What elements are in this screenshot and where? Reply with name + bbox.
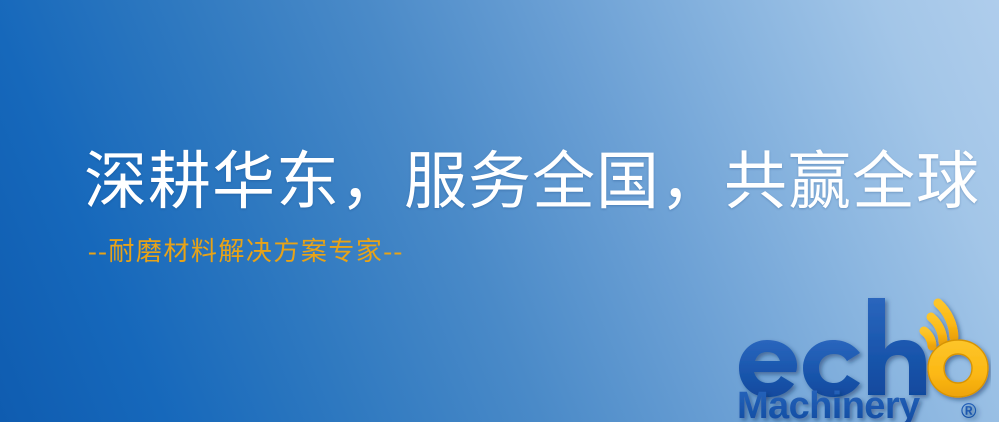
banner-text-block: 深耕华东，服务全国，共赢全球 --耐磨材料解决方案专家-- [84,146,980,267]
banner-subtitle: --耐磨材料解决方案专家-- [88,237,980,267]
svg-text:Machinery: Machinery [737,385,920,422]
signal-arcs-icon [924,303,954,346]
banner-headline: 深耕华东，服务全国，共赢全球 [84,146,980,218]
hero-banner: 深耕华东，服务全国，共赢全球 --耐磨材料解决方案专家-- [0,0,999,422]
svg-text:®: ® [961,400,977,422]
echo-machinery-logo[interactable]: Machinery ® [729,290,991,422]
